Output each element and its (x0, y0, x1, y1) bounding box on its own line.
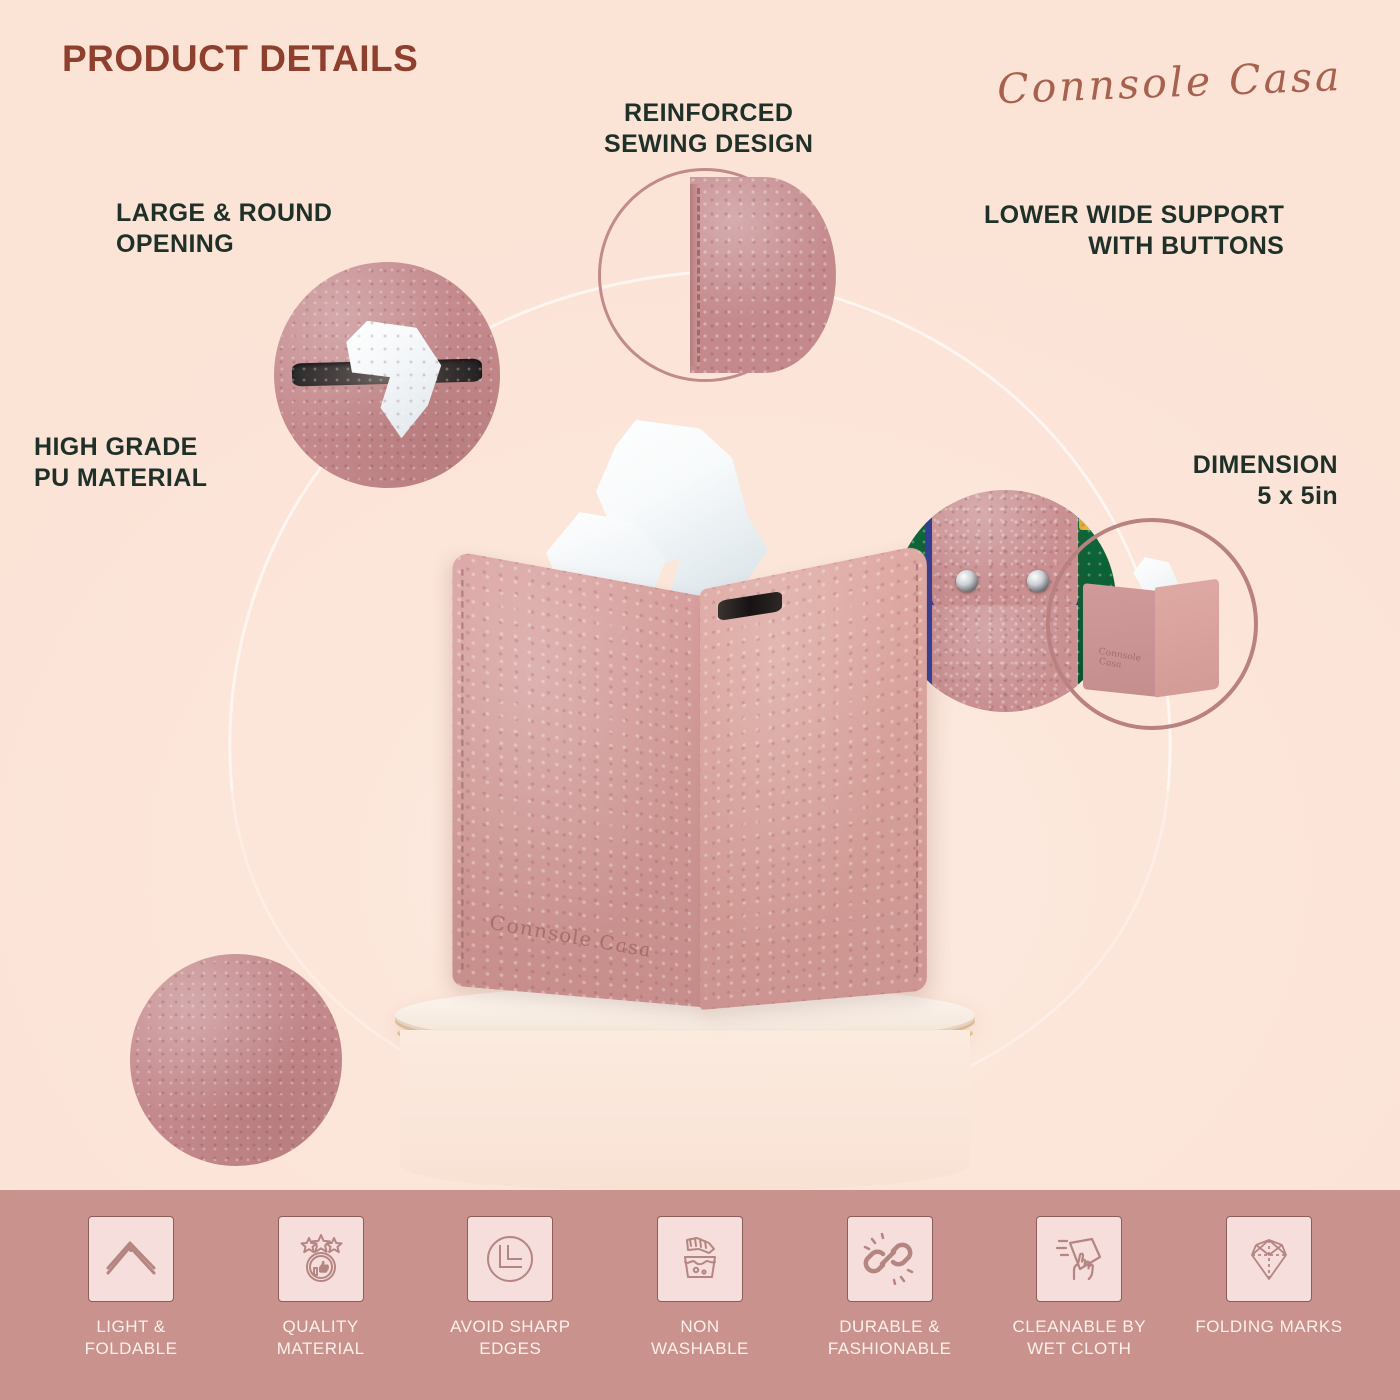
mini-embossed-logo: Connsole Casa (1099, 647, 1158, 677)
feature-item-durable-fashionable: DURABLE & FASHIONABLE (805, 1216, 975, 1360)
callout-label-dimension: DIMENSION 5 x 5in (1193, 450, 1338, 511)
hero-seam-left (461, 569, 463, 969)
feature-label: LIGHT & FOLDABLE (46, 1316, 216, 1360)
folding-marks-icon (1226, 1216, 1312, 1302)
stitch-line (697, 188, 701, 361)
leather-edge-sample (690, 177, 836, 374)
feature-item-folding-marks: FOLDING MARKS (1184, 1216, 1354, 1338)
foldable-icon (88, 1216, 174, 1302)
feature-bar: LIGHT & FOLDABLE QUALITY MATERIAL (0, 1190, 1400, 1400)
feature-label: DURABLE & FASHIONABLE (805, 1316, 975, 1360)
opening-slit (292, 359, 482, 387)
snap-button-left (956, 570, 978, 592)
snap-button-right (1027, 570, 1049, 592)
feature-label: NON WASHABLE (615, 1316, 785, 1360)
hero-product: Connsole Casa (400, 420, 1000, 1060)
callout-label-reinforced-sewing: REINFORCED SEWING DESIGN (604, 98, 813, 159)
feature-label: CLEANABLE BY WET CLOTH (994, 1316, 1164, 1360)
avoid-sharp-edges-icon (467, 1216, 553, 1302)
callout-label-lower-wide-support: LOWER WIDE SUPPORT WITH BUTTONS (984, 200, 1284, 261)
feature-label: FOLDING MARKS (1184, 1316, 1354, 1338)
non-washable-icon (657, 1216, 743, 1302)
infographic-canvas: PRODUCT DETAILS Connsole Casa LARGE & RO… (0, 0, 1400, 1400)
mini-box-side (1155, 579, 1219, 698)
hero-seam-right (916, 564, 918, 974)
feature-label: AVOID SHARP EDGES (425, 1316, 595, 1360)
feature-label: QUALITY MATERIAL (236, 1316, 406, 1360)
hero-box-front-panel: Connsole Casa (452, 551, 712, 1008)
feature-item-quality-material: QUALITY MATERIAL (236, 1216, 406, 1360)
callout-label-high-grade-pu: HIGH GRADE PU MATERIAL (34, 432, 207, 493)
detail-circle-pu-material (130, 954, 342, 1166)
mini-product-image: Connsole Casa (1077, 563, 1227, 693)
detail-circle-sewing (598, 168, 812, 382)
brand-logo: Connsole Casa (996, 52, 1343, 113)
wipe-cloth-icon (1036, 1216, 1122, 1302)
hero-embossed-logo: Connsole Casa (489, 911, 652, 963)
feature-item-cleanable-wet-cloth: CLEANABLE BY WET CLOTH (994, 1216, 1164, 1360)
callout-label-large-round-opening: LARGE & ROUND OPENING (116, 198, 332, 259)
feature-item-light-foldable: LIGHT & FOLDABLE (46, 1216, 216, 1360)
page-title: PRODUCT DETAILS (62, 38, 418, 80)
chain-link-icon (847, 1216, 933, 1302)
feature-item-avoid-sharp-edges: AVOID SHARP EDGES (425, 1216, 595, 1360)
detail-circle-dimension: Connsole Casa (1046, 518, 1258, 730)
feature-item-non-washable: NON WASHABLE (615, 1216, 785, 1360)
mini-box-front: Connsole Casa (1083, 583, 1157, 697)
quality-badge-icon (278, 1216, 364, 1302)
